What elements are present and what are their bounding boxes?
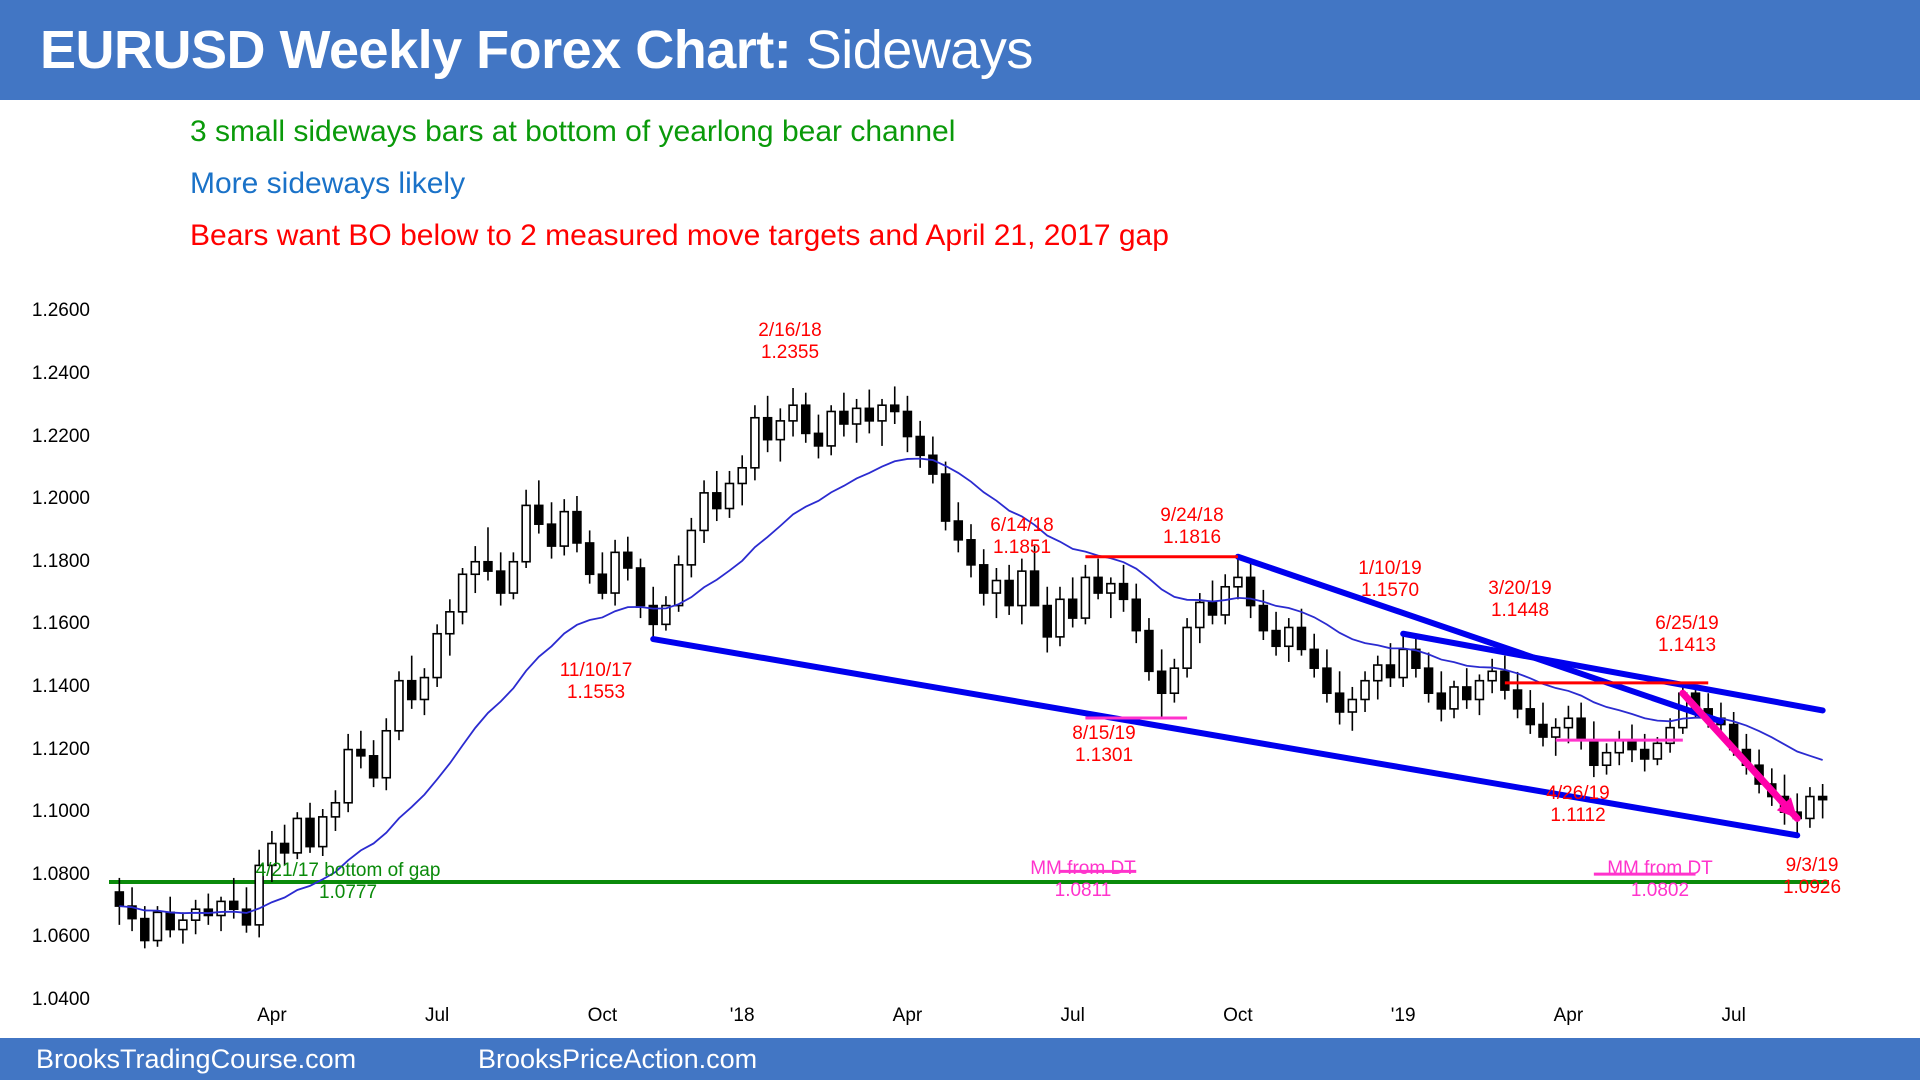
candle <box>1374 656 1382 700</box>
candle <box>192 900 200 934</box>
y-tick-label: 1.1200 <box>32 739 90 761</box>
x-tick-label: Apr <box>1554 1005 1584 1027</box>
candle <box>408 656 416 709</box>
candle <box>1081 565 1089 624</box>
candle <box>967 524 975 577</box>
candle <box>1132 584 1140 643</box>
footer-link-trading-course[interactable]: BrooksTradingCourse.com <box>36 1044 356 1075</box>
subtitle-line-2: More sideways likely <box>190 168 465 200</box>
candle <box>637 559 645 618</box>
candle <box>853 399 861 443</box>
candle <box>1501 656 1509 700</box>
candle <box>1323 649 1331 702</box>
candle <box>611 540 619 606</box>
candle <box>1387 643 1395 687</box>
candle <box>751 405 759 480</box>
breakout-arrow-shaft <box>1683 693 1797 818</box>
candle <box>293 812 301 859</box>
page-title-main: EURUSD Weekly Forex Chart: <box>40 20 791 80</box>
candle <box>1209 581 1217 625</box>
candle <box>1005 565 1013 615</box>
candle <box>141 906 149 948</box>
candle <box>509 552 517 599</box>
candle <box>1590 721 1598 777</box>
candle <box>916 421 924 468</box>
candle <box>1488 659 1496 693</box>
candle <box>954 502 962 552</box>
y-tick-label: 1.2400 <box>32 363 90 385</box>
candle <box>1412 634 1420 678</box>
candle <box>827 405 835 455</box>
candle <box>586 530 594 583</box>
candle <box>459 568 467 624</box>
candle <box>497 552 505 605</box>
candle <box>1259 590 1267 640</box>
candle <box>255 850 263 938</box>
y-tick-label: 1.1800 <box>32 551 90 573</box>
candle <box>1514 672 1522 718</box>
x-tick-label: Jul <box>1722 1005 1746 1027</box>
candle <box>1450 681 1458 719</box>
chart-svg <box>95 280 1855 1000</box>
candle <box>776 408 784 461</box>
candle <box>370 740 378 787</box>
candle <box>1145 618 1153 681</box>
footer-bar: BrooksTradingCourse.com BrooksPriceActio… <box>0 1038 1920 1080</box>
candle <box>1348 687 1356 731</box>
candle <box>217 897 225 931</box>
candle <box>1310 634 1318 678</box>
candle <box>1577 703 1585 750</box>
y-tick-label: 1.2600 <box>32 300 90 322</box>
candle <box>1361 671 1369 712</box>
candle <box>1043 587 1051 653</box>
candle <box>1628 725 1636 763</box>
candle <box>484 527 492 580</box>
page-title-sub: Sideways <box>806 20 1033 80</box>
candle <box>446 599 454 655</box>
x-tick-label: Apr <box>893 1005 923 1027</box>
candle <box>738 455 746 505</box>
subtitle-line-1: 3 small sideways bars at bottom of yearl… <box>190 116 955 148</box>
candle <box>1094 559 1102 600</box>
candle <box>1425 653 1433 703</box>
candle <box>1247 562 1255 618</box>
x-tick-label: Oct <box>588 1005 618 1027</box>
candle <box>802 393 810 443</box>
candle <box>713 471 721 521</box>
candle <box>1120 565 1128 612</box>
candle <box>548 502 556 558</box>
candle <box>1107 577 1115 618</box>
candle <box>1399 634 1407 687</box>
footer-link-price-action[interactable]: BrooksPriceAction.com <box>478 1044 757 1075</box>
candle <box>535 480 543 533</box>
candle <box>395 671 403 740</box>
candle <box>840 393 848 437</box>
candle <box>1463 668 1471 709</box>
page-title: EURUSD Weekly Forex Chart: Sideways <box>40 22 1033 78</box>
x-tick-label: Jul <box>1061 1005 1085 1027</box>
candle <box>662 596 670 630</box>
candle <box>815 415 823 459</box>
y-tick-label: 1.0800 <box>32 864 90 886</box>
candle <box>281 825 289 866</box>
candle <box>382 718 390 790</box>
candle <box>1018 559 1026 625</box>
candle <box>1552 718 1560 756</box>
x-tick-label: '19 <box>1391 1005 1416 1027</box>
candle <box>1819 784 1827 818</box>
x-tick-label: '18 <box>730 1005 755 1027</box>
candle <box>942 462 950 531</box>
candle <box>319 809 327 856</box>
y-tick-label: 1.0600 <box>32 926 90 948</box>
candle <box>115 878 123 925</box>
y-tick-label: 1.2000 <box>32 488 90 510</box>
candle <box>1056 587 1064 646</box>
candle <box>522 490 530 568</box>
candle <box>1437 671 1445 721</box>
y-tick-label: 1.2200 <box>32 426 90 448</box>
candle <box>904 396 912 452</box>
candle <box>1539 703 1547 747</box>
candle <box>598 552 606 599</box>
candle <box>166 897 174 938</box>
candle <box>420 668 428 715</box>
header-bar: EURUSD Weekly Forex Chart: Sideways <box>0 0 1920 100</box>
candlestick-plot <box>95 280 1855 1000</box>
candle <box>764 396 772 452</box>
candle <box>1285 618 1293 662</box>
candle <box>891 386 899 424</box>
candle <box>726 471 734 518</box>
candle <box>1666 718 1674 752</box>
chart-page: EURUSD Weekly Forex Chart: Sideways 3 sm… <box>0 0 1920 1080</box>
candle <box>268 831 276 882</box>
candle <box>992 568 1000 618</box>
candle <box>573 496 581 552</box>
y-tick-label: 1.1600 <box>32 613 90 635</box>
x-axis: AprJulOct'18AprJulOct'19AprJul <box>95 1005 1855 1039</box>
candle <box>878 399 886 446</box>
candle <box>1234 557 1242 600</box>
candle <box>1183 618 1191 677</box>
candle <box>560 499 568 555</box>
candle <box>1031 546 1039 606</box>
candle <box>1298 609 1306 656</box>
candle <box>1615 731 1623 765</box>
candle <box>1336 671 1344 724</box>
candle <box>687 518 695 577</box>
candle <box>1158 649 1166 718</box>
candle <box>1526 690 1534 734</box>
candle <box>1272 612 1280 656</box>
candle <box>204 894 212 925</box>
candle <box>1603 743 1611 774</box>
y-tick-label: 1.1000 <box>32 801 90 823</box>
y-tick-label: 1.1400 <box>32 676 90 698</box>
candle <box>1806 787 1814 828</box>
candle <box>179 912 187 943</box>
candle <box>357 731 365 769</box>
candle <box>128 887 136 931</box>
candle <box>1069 577 1077 627</box>
candle <box>649 587 657 639</box>
x-tick-label: Jul <box>425 1005 449 1027</box>
x-tick-label: Apr <box>257 1005 287 1027</box>
candle <box>700 480 708 543</box>
candle <box>624 537 632 581</box>
candle <box>243 887 251 932</box>
candle <box>1476 674 1484 715</box>
candle <box>433 624 441 687</box>
candle <box>789 388 797 437</box>
x-tick-label: Oct <box>1223 1005 1253 1027</box>
candle <box>332 790 340 831</box>
candle <box>865 390 873 434</box>
y-tick-label: 1.0400 <box>32 989 90 1011</box>
subtitle-line-3: Bears want BO below to 2 measured move t… <box>190 220 1169 252</box>
candle <box>1564 706 1572 744</box>
candle <box>471 546 479 593</box>
candle <box>154 906 162 947</box>
candle <box>980 549 988 605</box>
candle <box>1170 659 1178 703</box>
bear-channel-lower-line <box>653 639 1797 835</box>
candle <box>344 734 352 812</box>
y-axis: 1.26001.24001.22001.20001.18001.16001.14… <box>0 280 90 1000</box>
candle <box>306 803 314 853</box>
